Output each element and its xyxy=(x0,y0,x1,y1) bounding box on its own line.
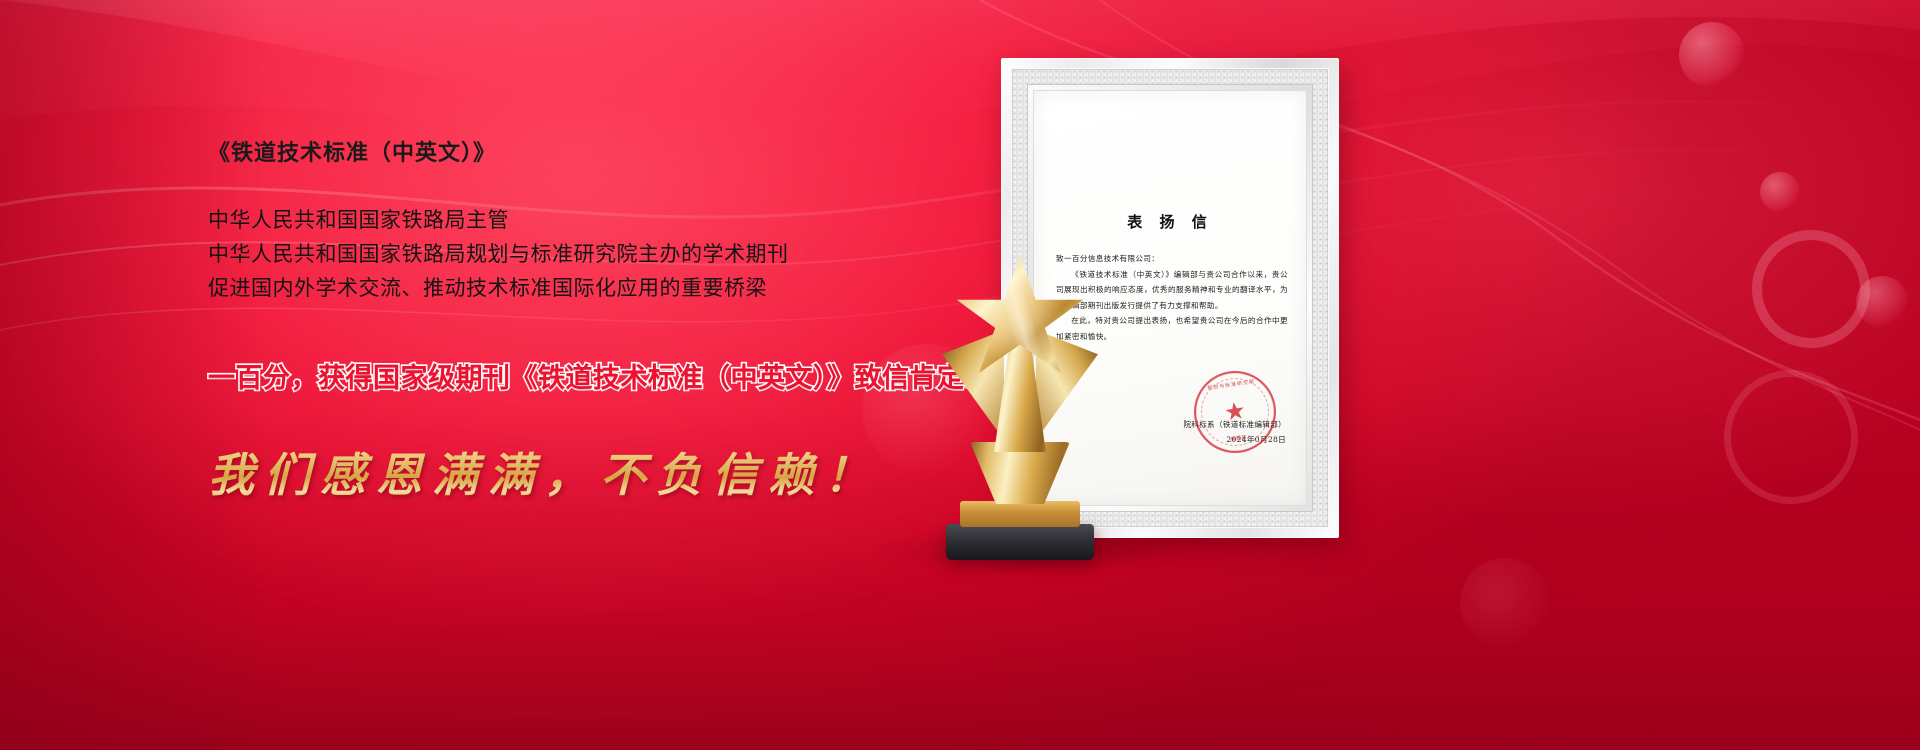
gold-slogan-text: 我们感恩满满，不负信赖！ xyxy=(208,439,968,505)
banner-stage: 《铁道技术标准（中英文）》 中华人民共和国国家铁路局主管 中华人民共和国国家铁路… xyxy=(0,0,1920,750)
trophy-base xyxy=(946,524,1094,560)
bokeh-circle-1 xyxy=(1679,22,1745,88)
description-line-3: 促进国内外学术交流、推动技术标准国际化应用的重要桥梁 xyxy=(208,272,968,306)
trophy-base-gold xyxy=(960,501,1080,527)
journal-title: 《铁道技术标准（中英文）》 xyxy=(208,140,968,166)
bokeh-ring-2 xyxy=(1724,370,1858,504)
bokeh-circle-2 xyxy=(1760,172,1800,212)
description-line-2: 中华人民共和国国家铁路局规划与标准研究院主办的学术期刊 xyxy=(208,238,968,272)
left-text-column: 《铁道技术标准（中英文）》 中华人民共和国国家铁路局主管 中华人民共和国国家铁路… xyxy=(208,140,968,505)
description-line-1: 中华人民共和国国家铁路局主管 xyxy=(208,204,968,238)
gold-star-trophy xyxy=(930,255,1110,560)
headline-text: 一百分，获得国家级期刊《铁道技术标准（中英文）》致信肯定! xyxy=(208,356,968,395)
bokeh-ring-1 xyxy=(1752,230,1870,348)
bokeh-circle-3 xyxy=(1856,276,1908,328)
bokeh-circle-5 xyxy=(1460,558,1550,648)
certificate-title: 表 扬 信 xyxy=(1034,211,1306,232)
